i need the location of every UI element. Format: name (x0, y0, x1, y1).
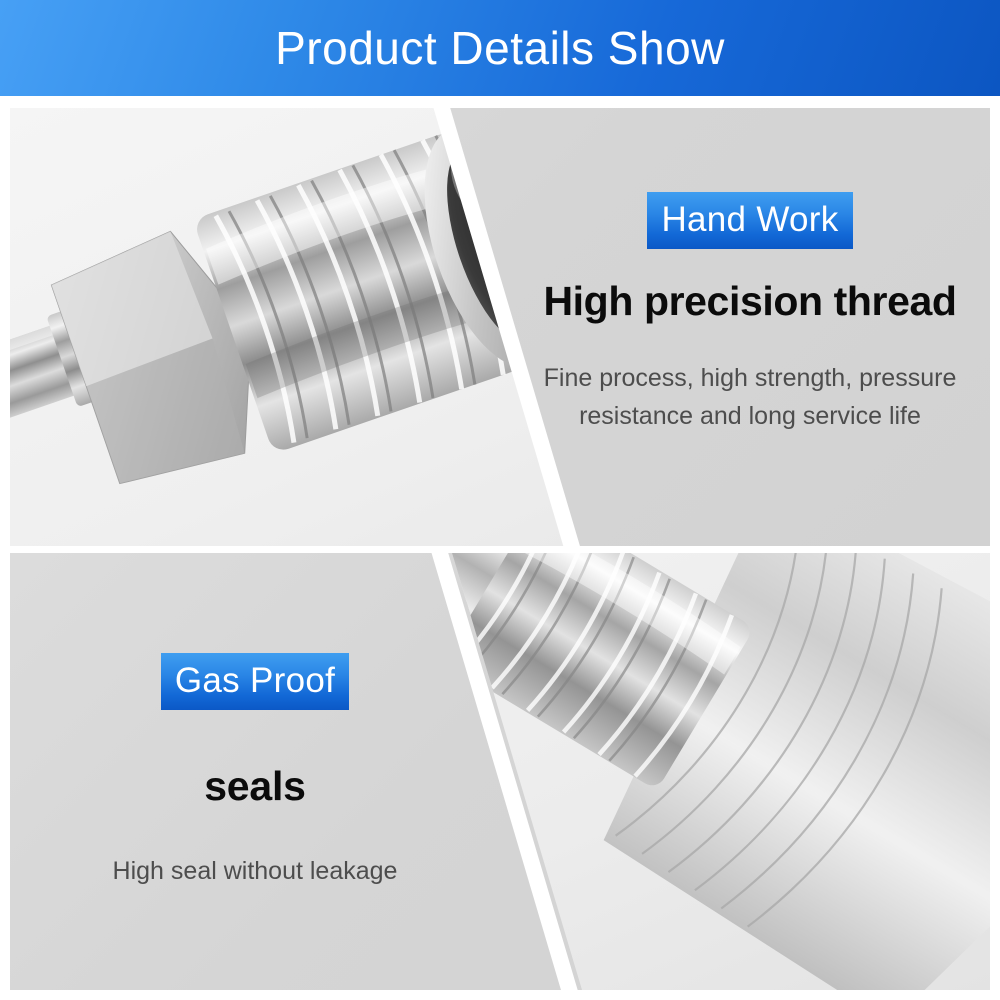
subtext-gas-proof: High seal without leakage (20, 853, 490, 891)
subtext-hand-work: Fine process, high strength, pressure re… (510, 360, 990, 435)
subtext-line-1: High seal without leakage (20, 853, 490, 891)
badge-hand-work: Hand Work (647, 192, 852, 249)
page-title: Product Details Show (275, 25, 725, 71)
section-gas-proof: Gas Proof seals High seal without leakag… (10, 553, 990, 990)
headline-seals: seals (20, 765, 490, 808)
badge-row-hand-work: Hand Work (510, 192, 990, 249)
headline-high-precision-thread: High precision thread (510, 280, 990, 323)
subtext-line-2: resistance and long service life (510, 398, 990, 436)
section-hand-work: Hand Work High precision thread Fine pro… (10, 108, 990, 546)
badge-row-gas-proof: Gas Proof (20, 653, 490, 710)
badge-gas-proof: Gas Proof (161, 653, 349, 710)
header-banner: Product Details Show (0, 0, 1000, 96)
subtext-line-1: Fine process, high strength, pressure (510, 360, 990, 398)
bottom-margin (0, 990, 1000, 1000)
